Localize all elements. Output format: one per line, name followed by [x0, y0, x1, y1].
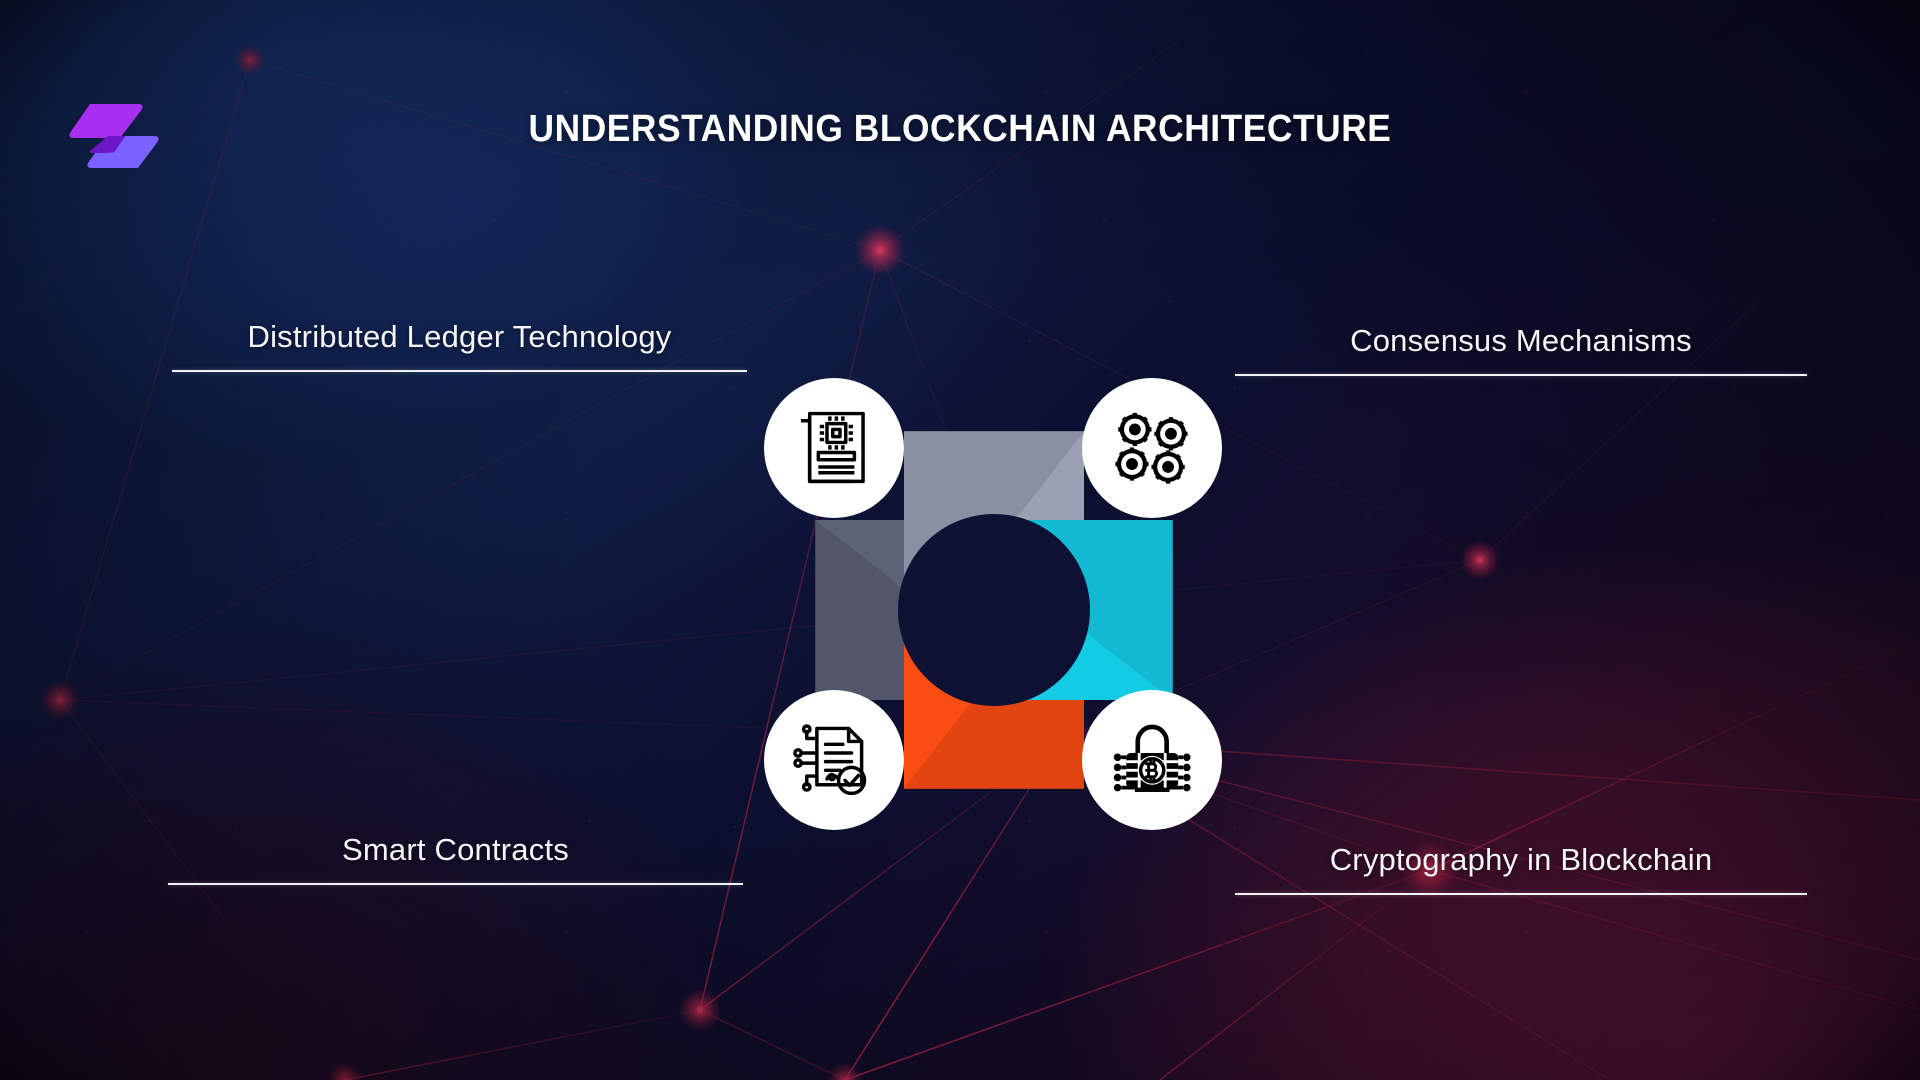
label-smart-contracts-text: Smart Contracts [168, 833, 743, 867]
icon-disc-consensus[interactable] [1082, 378, 1222, 518]
label-distributed-ledger: Distributed Ledger Technology [172, 320, 747, 372]
label-consensus: Consensus Mechanisms [1235, 324, 1807, 376]
padlock-bitcoin-circuit-icon [1106, 714, 1198, 806]
ledger-chip-document-icon [788, 402, 880, 494]
label-consensus-rule [1235, 374, 1807, 376]
label-cryptography-text: Cryptography in Blockchain [1235, 843, 1807, 877]
label-smart-contracts-rule [168, 883, 743, 885]
label-distributed-ledger-text: Distributed Ledger Technology [172, 320, 747, 354]
label-consensus-text: Consensus Mechanisms [1235, 324, 1807, 358]
page-title: UNDERSTANDING BLOCKCHAIN ARCHITECTURE [67, 108, 1853, 151]
icon-disc-smart-contracts[interactable] [764, 690, 904, 830]
label-distributed-ledger-rule [172, 370, 747, 372]
label-cryptography: Cryptography in Blockchain [1235, 843, 1807, 895]
icon-disc-cryptography[interactable] [1082, 690, 1222, 830]
four-gears-icon [1106, 402, 1198, 494]
label-smart-contracts: Smart Contracts [168, 833, 743, 885]
icon-disc-distributed-ledger[interactable] [764, 378, 904, 518]
hub-center-circle [898, 514, 1090, 706]
label-cryptography-rule [1235, 893, 1807, 895]
signed-contract-check-icon [788, 714, 880, 806]
slide-canvas: UNDERSTANDING BLOCKCHAIN ARCHITECTURE Di… [0, 0, 1920, 1080]
